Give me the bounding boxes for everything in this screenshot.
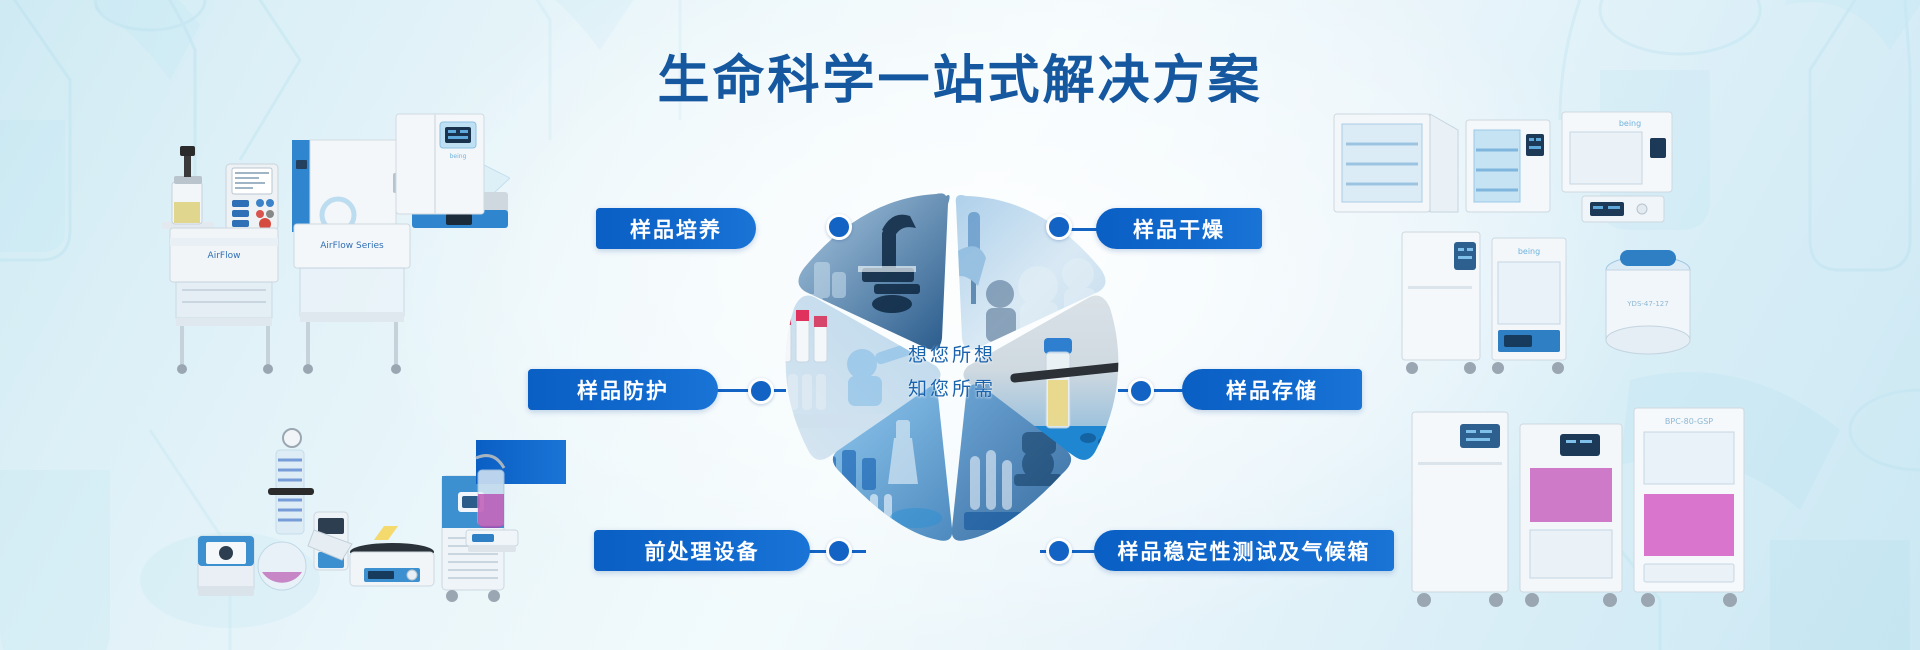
node-pretreatment[interactable]	[826, 538, 852, 564]
svg-text:being: being	[1619, 119, 1641, 128]
node-sample-storage[interactable]	[1128, 378, 1154, 404]
liquid-nitrogen-tank-icon: YDS-47-127	[1606, 250, 1690, 354]
climate-chamber-icon	[1520, 424, 1622, 607]
category-label-sample-protection[interactable]: 样品防护	[528, 369, 718, 410]
category-label-text: 前处理设备	[645, 536, 760, 566]
product-group-sample-drying: being	[1330, 108, 1700, 230]
biosafety-cabinet-icon: AirFlow Series	[294, 224, 410, 374]
svg-text:being: being	[450, 153, 467, 160]
node-sample-cultivation[interactable]	[826, 214, 852, 240]
hexagonal-petal-graphic	[770, 188, 1134, 552]
category-label-text: 样品培养	[630, 214, 722, 244]
category-label-pretreatment[interactable]: 前处理设备	[594, 530, 810, 571]
category-label-text: 样品稳定性测试及气候箱	[1118, 536, 1371, 566]
product-constant-temp-chamber: being	[392, 110, 488, 218]
laminar-flow-hood-icon: AirFlow	[170, 228, 278, 374]
page-title: 生命科学一站式解决方案	[0, 38, 1920, 113]
category-label-sample-drying[interactable]: 样品干燥	[1096, 208, 1262, 249]
category-label-stability-chamber[interactable]: 样品稳定性测试及气候箱	[1094, 530, 1394, 571]
heating-mantle-icon	[350, 526, 434, 586]
rotary-evaporator-icon	[258, 429, 352, 590]
category-label-text: 样品防护	[577, 375, 669, 405]
forced-air-oven-icon	[1466, 120, 1550, 212]
controller-unit-icon	[226, 164, 278, 230]
category-label-sample-storage[interactable]: 样品存储	[1182, 369, 1362, 410]
svg-text:AirFlow Series: AirFlow Series	[320, 241, 384, 251]
photostability-chamber-icon: BPC-80-GSP	[1634, 408, 1744, 607]
node-sample-protection[interactable]	[748, 378, 774, 404]
product-group-stability-chambers: BPC-80-GSP	[1408, 402, 1760, 622]
product-group-sample-protection: AirFlow AirFlow Series	[162, 222, 422, 382]
ultra-low-freezer-icon	[1402, 232, 1480, 374]
vacuum-pump-icon	[198, 536, 254, 596]
svg-text:BPC-80-GSP: BPC-80-GSP	[1665, 417, 1713, 426]
category-label-text: 样品干燥	[1133, 214, 1225, 244]
category-label-sample-cultivation[interactable]: 样品培养	[596, 208, 756, 249]
stability-chamber-icon	[1412, 412, 1508, 607]
svg-text:being: being	[1518, 247, 1540, 256]
node-sample-drying[interactable]	[1046, 214, 1072, 240]
life-science-banner: 生命科学一站式解决方案	[0, 0, 1920, 650]
bioreactor-icon	[162, 146, 214, 229]
co2-incubator-icon	[292, 140, 398, 232]
product-group-sample-storage: being YDS-47-127	[1398, 228, 1738, 378]
node-stability-chamber[interactable]	[1046, 538, 1072, 564]
svg-text:YDS-47-127: YDS-47-127	[1626, 300, 1668, 308]
lab-refrigerator-icon: being	[1492, 238, 1566, 374]
svg-text:AirFlow: AirFlow	[208, 251, 241, 261]
vacuum-drying-oven-icon	[1334, 114, 1458, 212]
product-magnetic-stirrer	[452, 452, 530, 562]
category-label-text: 样品存储	[1226, 375, 1318, 405]
benchtop-oven-icon: being	[1562, 112, 1672, 222]
